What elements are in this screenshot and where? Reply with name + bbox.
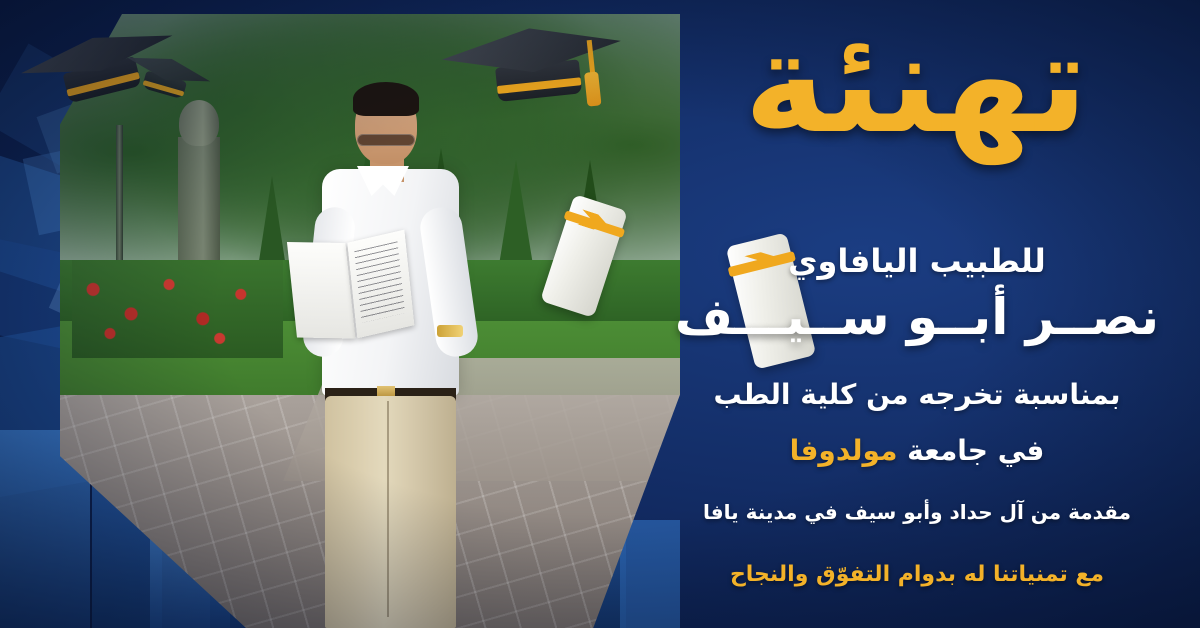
occasion-line-2-highlight: مولدوفا: [790, 434, 898, 467]
honoree-name: نصــر أبــو ســيـــف: [662, 288, 1172, 346]
presented-by: مقدمة من آل حداد وأبو سيف في مدينة يافا: [662, 500, 1172, 524]
occasion-line-2: في جامعة مولدوفا: [662, 434, 1172, 467]
text-column: تهنئة للطبيب اليافاوي نصــر أبــو ســيــ…: [642, 0, 1182, 628]
wishes-line: مع تمنياتنا له بدوام التفوّق والنجاح: [662, 562, 1172, 587]
occasion-line-2-prefix: في جامعة: [897, 434, 1044, 467]
poster-title: تهنئة: [656, 14, 1176, 154]
congratulation-poster: تهنئة للطبيب اليافاوي نصــر أبــو ســيــ…: [0, 0, 1200, 628]
occasion-line-1: بمناسبة تخرجه من كلية الطب: [662, 378, 1172, 411]
poster-subtitle: للطبيب اليافاوي: [662, 242, 1172, 280]
